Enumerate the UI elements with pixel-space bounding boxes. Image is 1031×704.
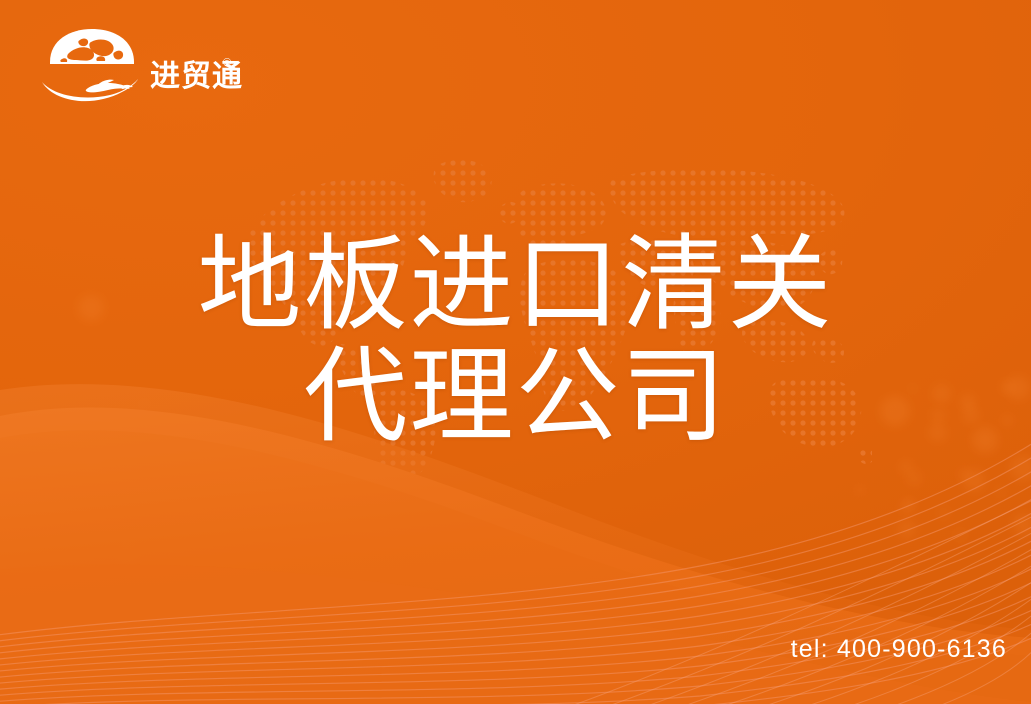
registered-trademark-icon: ®	[223, 58, 231, 69]
page-title: 地板进口清关 代理公司	[0, 228, 1031, 452]
brand-logo[interactable]: 进贸通 ®	[38, 26, 218, 104]
contact-phone[interactable]: tel: 400-900-6136	[791, 634, 1007, 664]
headline-line-1: 地板进口清关	[0, 228, 1031, 340]
promotional-banner: 进贸通 ® 地板进口清关 代理公司 tel: 400-900-6136	[0, 0, 1031, 704]
headline-line-2: 代理公司	[0, 340, 1031, 452]
imton-globe-mark-icon	[38, 26, 146, 104]
